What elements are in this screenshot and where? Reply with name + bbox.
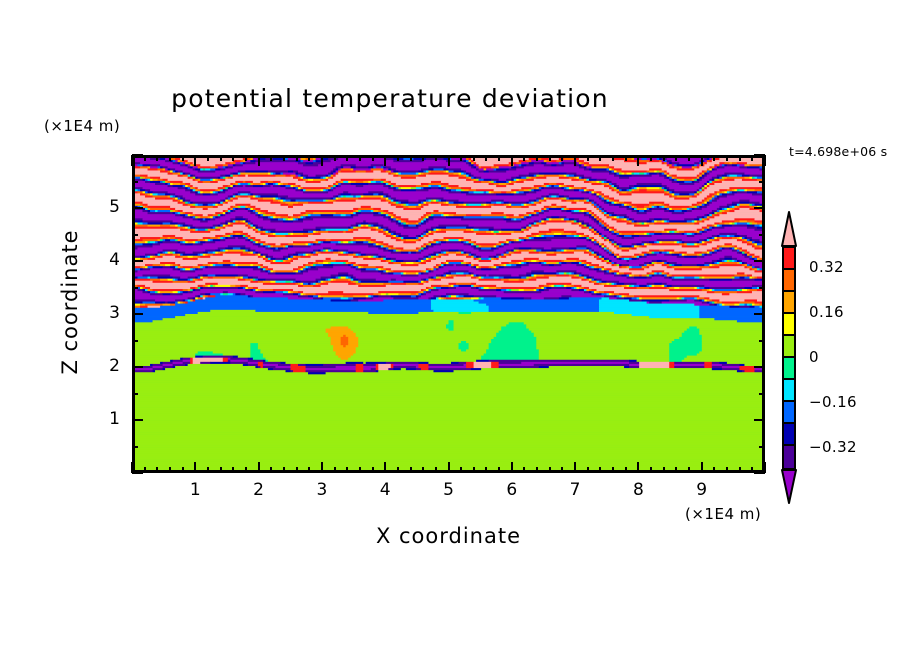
y-axis-unit-label: (×1E4 m) (44, 117, 120, 135)
x-minor-tick (599, 155, 601, 161)
x-axis-label: X coordinate (132, 524, 765, 548)
x-minor-tick (422, 155, 424, 161)
x-major-tick (574, 462, 576, 473)
x-minor-tick (435, 155, 437, 161)
y-tick-label: 2 (90, 356, 120, 376)
x-minor-tick (612, 467, 614, 473)
x-minor-tick (422, 467, 424, 473)
colorbar-segment (784, 314, 794, 336)
y-major-tick (754, 419, 765, 421)
y-major-tick (132, 419, 143, 421)
colorbar-gradient (782, 246, 796, 470)
x-minor-tick (561, 155, 563, 161)
x-minor-tick (346, 467, 348, 473)
x-major-tick (574, 155, 576, 166)
x-minor-tick (460, 155, 462, 161)
y-minor-tick (759, 446, 765, 448)
x-minor-tick (688, 155, 690, 161)
x-minor-tick (587, 467, 589, 473)
x-minor-tick (397, 155, 399, 161)
y-major-tick (132, 260, 143, 262)
x-tick-label: 9 (682, 480, 722, 500)
x-major-tick (131, 155, 133, 166)
x-tick-label: 3 (302, 480, 342, 500)
y-major-tick (754, 313, 765, 315)
x-minor-tick (270, 155, 272, 161)
y-minor-tick (132, 393, 138, 395)
x-minor-tick (549, 155, 551, 161)
x-major-tick (384, 462, 386, 473)
colorbar-segment (784, 336, 794, 358)
x-minor-tick (372, 467, 374, 473)
x-minor-tick (713, 155, 715, 161)
x-minor-tick (346, 155, 348, 161)
x-tick-label: 8 (618, 480, 658, 500)
colorbar-segment (784, 358, 794, 380)
x-minor-tick (523, 155, 525, 161)
x-major-tick (637, 155, 639, 166)
x-minor-tick (536, 467, 538, 473)
y-major-tick (132, 313, 143, 315)
y-minor-tick (132, 287, 138, 289)
x-minor-tick (296, 467, 298, 473)
x-minor-tick (650, 155, 652, 161)
x-tick-label: 2 (239, 480, 279, 500)
x-tick-label: 7 (555, 480, 595, 500)
y-major-tick (754, 260, 765, 262)
y-minor-tick (759, 234, 765, 236)
x-minor-tick (334, 467, 336, 473)
y-axis-label: Z coordinate (58, 202, 82, 402)
x-minor-tick (549, 467, 551, 473)
x-minor-tick (169, 467, 171, 473)
figure-canvas: potential temperature deviation (×1E4 m)… (0, 0, 904, 654)
x-minor-tick (498, 155, 500, 161)
colorbar-segment (784, 446, 794, 468)
x-major-tick (321, 155, 323, 166)
x-minor-tick (410, 155, 412, 161)
y-major-tick (754, 207, 765, 209)
x-axis-unit-label: (×1E4 m) (685, 505, 761, 523)
x-minor-tick (283, 467, 285, 473)
colorbar-segment (784, 248, 794, 270)
colorbar[interactable]: 0.320.160−0.16−0.32 (779, 210, 799, 505)
x-tick-label: 5 (429, 480, 469, 500)
x-minor-tick (410, 467, 412, 473)
x-major-tick (701, 155, 703, 166)
x-minor-tick (182, 155, 184, 161)
x-minor-tick (498, 467, 500, 473)
y-minor-tick (132, 181, 138, 183)
x-minor-tick (296, 155, 298, 161)
x-minor-tick (625, 155, 627, 161)
colorbar-segment (784, 270, 794, 292)
x-minor-tick (283, 155, 285, 161)
y-major-tick (754, 472, 765, 474)
x-minor-tick (397, 467, 399, 473)
colorbar-label: 0.32 (809, 258, 844, 276)
colorbar-segment (784, 424, 794, 446)
x-minor-tick (359, 467, 361, 473)
x-major-tick (321, 462, 323, 473)
colorbar-segment (784, 402, 794, 424)
contour-field (135, 158, 762, 470)
x-minor-tick (270, 467, 272, 473)
x-minor-tick (232, 155, 234, 161)
x-minor-tick (144, 467, 146, 473)
x-minor-tick (245, 467, 247, 473)
x-minor-tick (207, 467, 209, 473)
x-major-tick (194, 462, 196, 473)
x-major-tick (194, 155, 196, 166)
x-major-tick (701, 462, 703, 473)
colorbar-segment (784, 292, 794, 314)
x-minor-tick (587, 155, 589, 161)
x-minor-tick (245, 155, 247, 161)
timestamp-annotation: t=4.698e+06 s (789, 144, 887, 159)
plot-area (132, 155, 765, 473)
page-title: potential temperature deviation (0, 84, 780, 113)
x-major-tick (448, 462, 450, 473)
x-minor-tick (726, 467, 728, 473)
x-minor-tick (536, 155, 538, 161)
y-major-tick (132, 154, 143, 156)
x-major-tick (637, 462, 639, 473)
x-minor-tick (625, 467, 627, 473)
y-major-tick (132, 472, 143, 474)
colorbar-segment (784, 380, 794, 402)
x-minor-tick (561, 467, 563, 473)
x-minor-tick (599, 467, 601, 473)
y-major-tick (132, 366, 143, 368)
y-tick-label: 3 (90, 303, 120, 323)
x-minor-tick (473, 467, 475, 473)
x-minor-tick (739, 467, 741, 473)
x-minor-tick (523, 467, 525, 473)
x-tick-label: 6 (492, 480, 532, 500)
x-major-tick (764, 155, 766, 166)
x-major-tick (448, 155, 450, 166)
colorbar-label: 0.16 (809, 303, 844, 321)
y-minor-tick (759, 181, 765, 183)
x-major-tick (258, 462, 260, 473)
x-minor-tick (182, 467, 184, 473)
x-minor-tick (334, 155, 336, 161)
x-minor-tick (460, 467, 462, 473)
x-minor-tick (473, 155, 475, 161)
x-minor-tick (207, 155, 209, 161)
x-minor-tick (650, 467, 652, 473)
plot-clip (135, 158, 762, 470)
y-minor-tick (132, 446, 138, 448)
x-major-tick (384, 155, 386, 166)
x-minor-tick (663, 155, 665, 161)
x-minor-tick (144, 155, 146, 161)
x-minor-tick (308, 467, 310, 473)
y-major-tick (132, 207, 143, 209)
x-tick-label: 1 (175, 480, 215, 500)
x-minor-tick (612, 155, 614, 161)
x-minor-tick (169, 155, 171, 161)
y-tick-label: 4 (90, 250, 120, 270)
x-minor-tick (220, 467, 222, 473)
x-minor-tick (359, 155, 361, 161)
x-major-tick (511, 462, 513, 473)
y-major-tick (754, 366, 765, 368)
colorbar-label: 0 (809, 348, 819, 366)
x-minor-tick (726, 155, 728, 161)
y-major-tick (754, 154, 765, 156)
x-minor-tick (156, 155, 158, 161)
x-major-tick (511, 155, 513, 166)
x-minor-tick (688, 467, 690, 473)
x-minor-tick (739, 155, 741, 161)
y-minor-tick (132, 340, 138, 342)
x-minor-tick (220, 155, 222, 161)
x-minor-tick (675, 155, 677, 161)
x-minor-tick (675, 467, 677, 473)
colorbar-label: −0.16 (809, 393, 857, 411)
x-minor-tick (485, 467, 487, 473)
y-minor-tick (759, 287, 765, 289)
x-minor-tick (663, 467, 665, 473)
x-minor-tick (713, 467, 715, 473)
x-minor-tick (308, 155, 310, 161)
x-minor-tick (485, 155, 487, 161)
x-minor-tick (156, 467, 158, 473)
y-tick-label: 5 (90, 197, 120, 217)
x-minor-tick (232, 467, 234, 473)
x-major-tick (258, 155, 260, 166)
x-minor-tick (435, 467, 437, 473)
colorbar-label: −0.32 (809, 438, 857, 456)
y-minor-tick (132, 234, 138, 236)
x-minor-tick (372, 155, 374, 161)
y-minor-tick (759, 340, 765, 342)
x-tick-label: 4 (365, 480, 405, 500)
y-tick-label: 1 (90, 409, 120, 429)
y-minor-tick (759, 393, 765, 395)
